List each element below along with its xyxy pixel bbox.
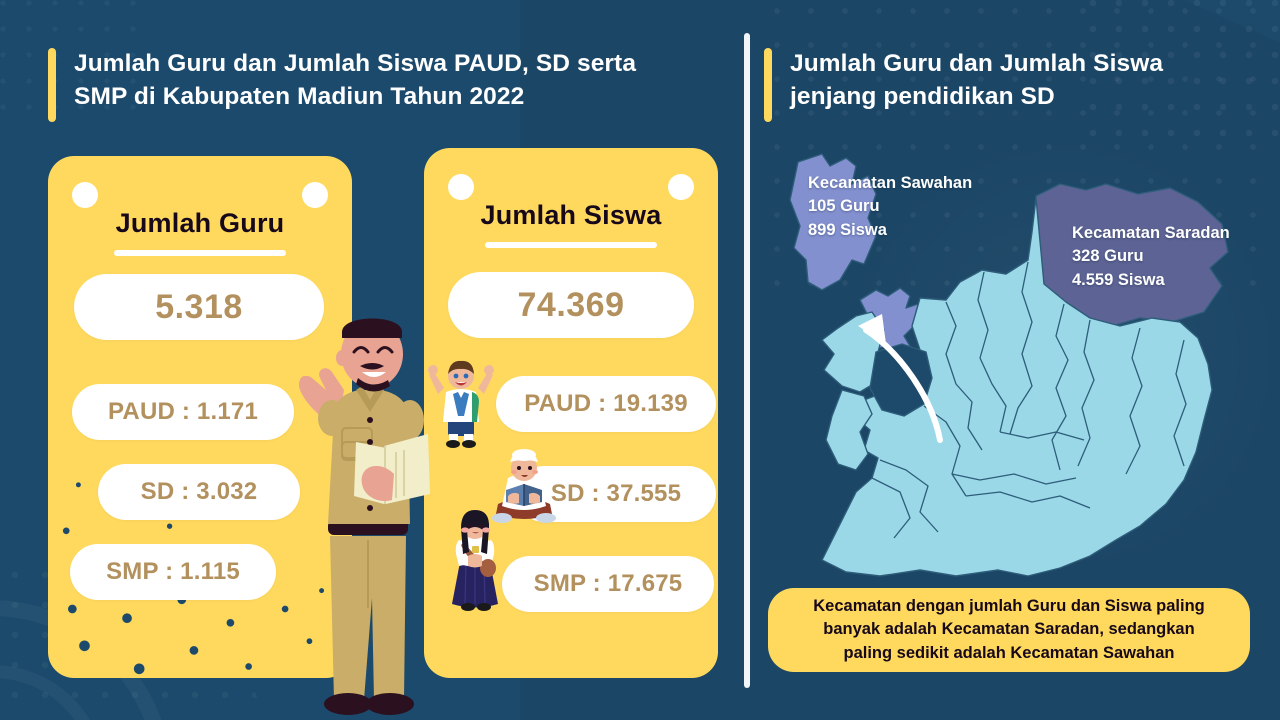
punch-hole-right-icon bbox=[302, 182, 328, 208]
infographic-canvas: Jumlah Guru dan Jumlah Siswa PAUD, SD se… bbox=[0, 0, 1280, 720]
punch-hole-right-icon bbox=[668, 174, 694, 200]
panel-divider bbox=[744, 33, 750, 688]
siswa-smp-value: SMP : 17.675 bbox=[502, 556, 714, 612]
right-title-text: Jumlah Guru dan Jumlah Siswa jenjang pen… bbox=[790, 48, 1163, 113]
summary-caption-text: Kecamatan dengan jumlah Guru dan Siswa p… bbox=[797, 595, 1221, 665]
summary-caption-box: Kecamatan dengan jumlah Guru dan Siswa p… bbox=[768, 588, 1250, 672]
punch-hole-left-icon bbox=[72, 182, 98, 208]
guru-smp-value: SMP : 1.115 bbox=[70, 544, 276, 600]
left-title-text: Jumlah Guru dan Jumlah Siswa PAUD, SD se… bbox=[74, 48, 636, 113]
map-label-sawahan: Kecamatan Sawahan 105 Guru 899 Siswa bbox=[808, 172, 972, 242]
card-heading-siswa: Jumlah Siswa bbox=[424, 200, 718, 231]
title-accent-bar bbox=[764, 48, 772, 122]
right-panel-title: Jumlah Guru dan Jumlah Siswa jenjang pen… bbox=[764, 48, 1234, 122]
left-panel-title: Jumlah Guru dan Jumlah Siswa PAUD, SD se… bbox=[48, 48, 738, 122]
student-boy-illustration bbox=[428, 358, 494, 448]
card-heading-guru: Jumlah Guru bbox=[48, 208, 352, 239]
siswa-total-value: 74.369 bbox=[448, 272, 694, 338]
punch-hole-left-icon bbox=[448, 174, 474, 200]
siswa-paud-value: PAUD : 19.139 bbox=[496, 376, 716, 432]
student-girl-illustration bbox=[444, 508, 506, 614]
map-label-saradan: Kecamatan Saradan 328 Guru 4.559 Siswa bbox=[1072, 222, 1230, 292]
card-underline bbox=[114, 250, 286, 256]
card-underline bbox=[485, 242, 657, 248]
guru-paud-value: PAUD : 1.171 bbox=[72, 384, 294, 440]
title-accent-bar bbox=[48, 48, 56, 122]
